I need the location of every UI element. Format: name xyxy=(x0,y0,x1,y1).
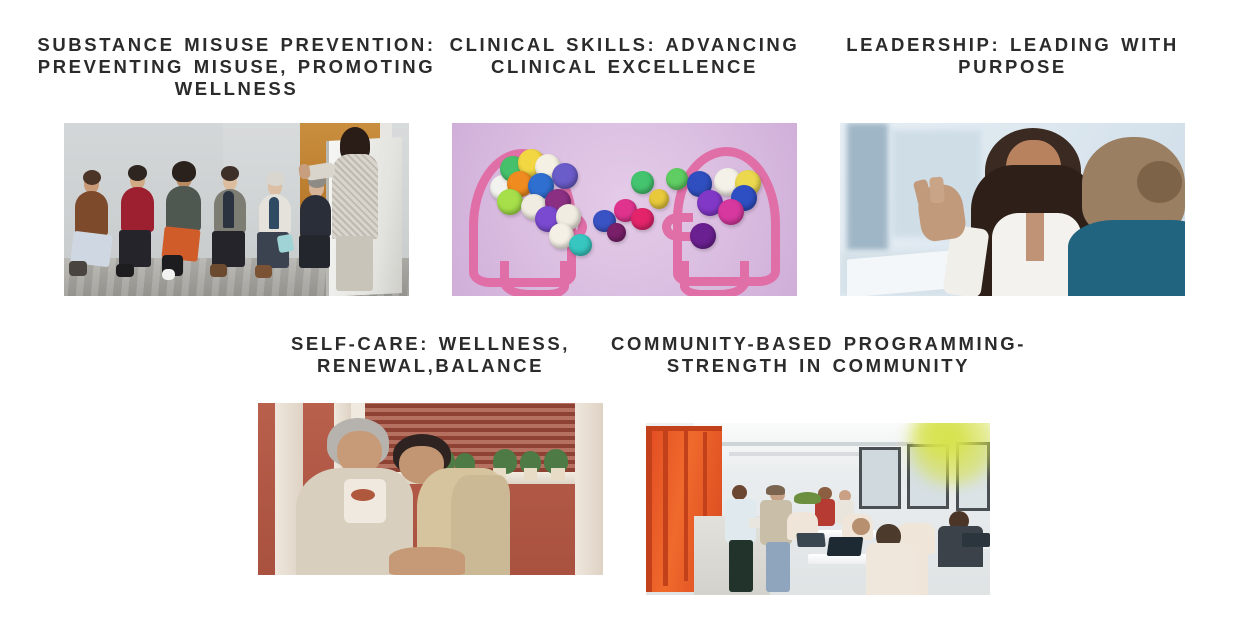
card-substance-misuse-prevention[interactable]: SUBSTANCE MISUSE PREVENTION: PREVENTING … xyxy=(28,34,445,99)
card-leadership[interactable]: LEADERSHIP: LEADING WITH PURPOSE xyxy=(804,34,1221,78)
image-grid-page: SUBSTANCE MISUSE PREVENTION: PREVENTING … xyxy=(0,0,1240,620)
card-image-community-based-programming[interactable] xyxy=(646,423,990,595)
card-clinical-skills[interactable]: CLINICAL SKILLS: ADVANCING CLINICAL EXCE… xyxy=(416,34,833,78)
card-title-clinical-skills: CLINICAL SKILLS: ADVANCING CLINICAL EXCE… xyxy=(416,34,833,78)
card-self-care[interactable]: SELF-CARE: WELLNESS, RENEWAL,BALANCE xyxy=(222,333,639,377)
card-image-substance-misuse-prevention[interactable] xyxy=(64,123,409,296)
card-title-self-care: SELF-CARE: WELLNESS, RENEWAL,BALANCE xyxy=(222,333,639,377)
card-title-substance-misuse-prevention: SUBSTANCE MISUSE PREVENTION: PREVENTING … xyxy=(28,34,445,99)
card-title-community-based-programming: COMMUNITY-BASED PROGRAMMING- STRENGTH IN… xyxy=(610,333,1027,377)
card-image-leadership[interactable] xyxy=(840,123,1185,296)
card-title-leadership: LEADERSHIP: LEADING WITH PURPOSE xyxy=(804,34,1221,78)
card-image-self-care[interactable] xyxy=(258,403,603,575)
card-community-based-programming[interactable]: COMMUNITY-BASED PROGRAMMING- STRENGTH IN… xyxy=(610,333,1027,377)
card-image-clinical-skills[interactable] xyxy=(452,123,797,296)
